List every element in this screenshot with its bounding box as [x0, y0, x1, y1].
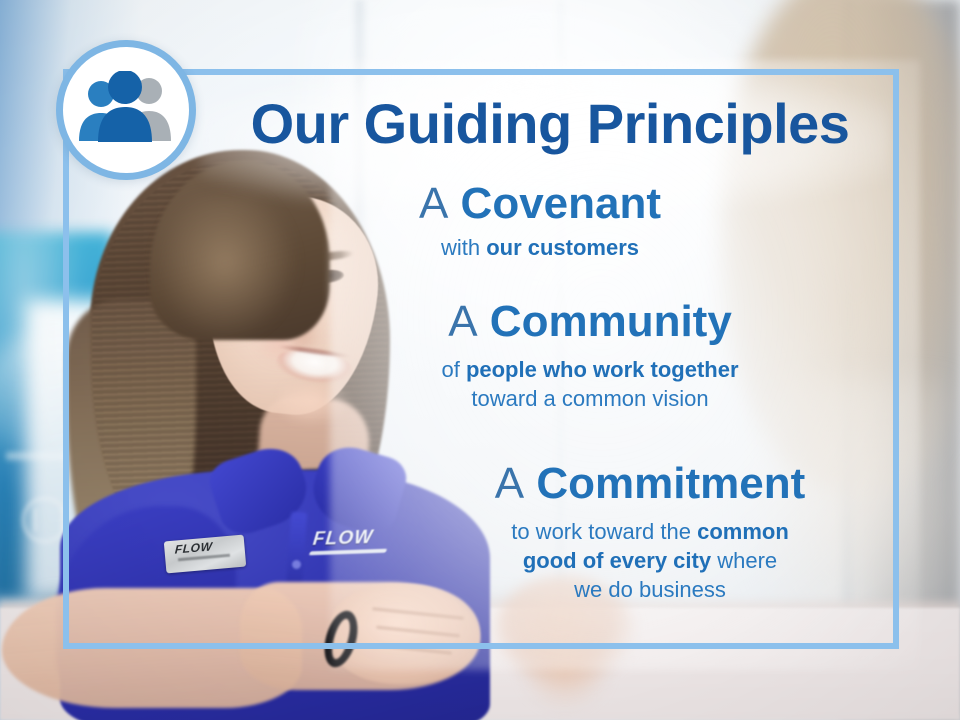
principle-detail: to work toward the commongood of every c… [420, 517, 880, 604]
emphasis-text: people who work together [466, 357, 739, 382]
principle-detail-line: we do business [420, 575, 880, 604]
emphasis-text: our customers [486, 235, 639, 260]
principle-heading: A Community [360, 300, 820, 345]
plain-text: toward a common vision [471, 386, 708, 411]
principle-detail-line: to work toward the common [420, 517, 880, 546]
principle-detail-line: of people who work together [360, 355, 820, 384]
emphasis-text: common [697, 519, 789, 544]
page-title: Our Guiding Principles [0, 96, 960, 152]
plain-text: where [711, 548, 777, 573]
plain-text: to work toward the [511, 519, 697, 544]
principle-covenant: A Covenant with our customers [330, 182, 750, 262]
principle-community: A Community of people who work togethert… [360, 300, 820, 413]
emphasis-text: good of every city [523, 548, 711, 573]
principle-commitment: A Commitment to work toward the commongo… [420, 462, 880, 604]
principle-heading: A Commitment [420, 462, 880, 507]
guiding-principles-banner: FLOW FLOW [0, 0, 960, 720]
principle-detail-line: good of every city where [420, 546, 880, 575]
principle-keyword: Commitment [536, 459, 805, 508]
principle-detail: with our customers [330, 233, 750, 262]
principle-article: A [419, 179, 448, 228]
principle-detail-line: toward a common vision [360, 384, 820, 413]
plain-text: we do business [574, 577, 726, 602]
principle-keyword: Covenant [461, 179, 661, 228]
principle-article: A [495, 459, 524, 508]
plain-text: of [441, 357, 465, 382]
principle-article: A [448, 297, 477, 346]
principle-detail: of people who work togethertoward a comm… [360, 355, 820, 413]
plain-text: with [441, 235, 486, 260]
principle-keyword: Community [490, 297, 732, 346]
principle-detail-line: with our customers [330, 233, 750, 262]
principle-heading: A Covenant [330, 182, 750, 227]
